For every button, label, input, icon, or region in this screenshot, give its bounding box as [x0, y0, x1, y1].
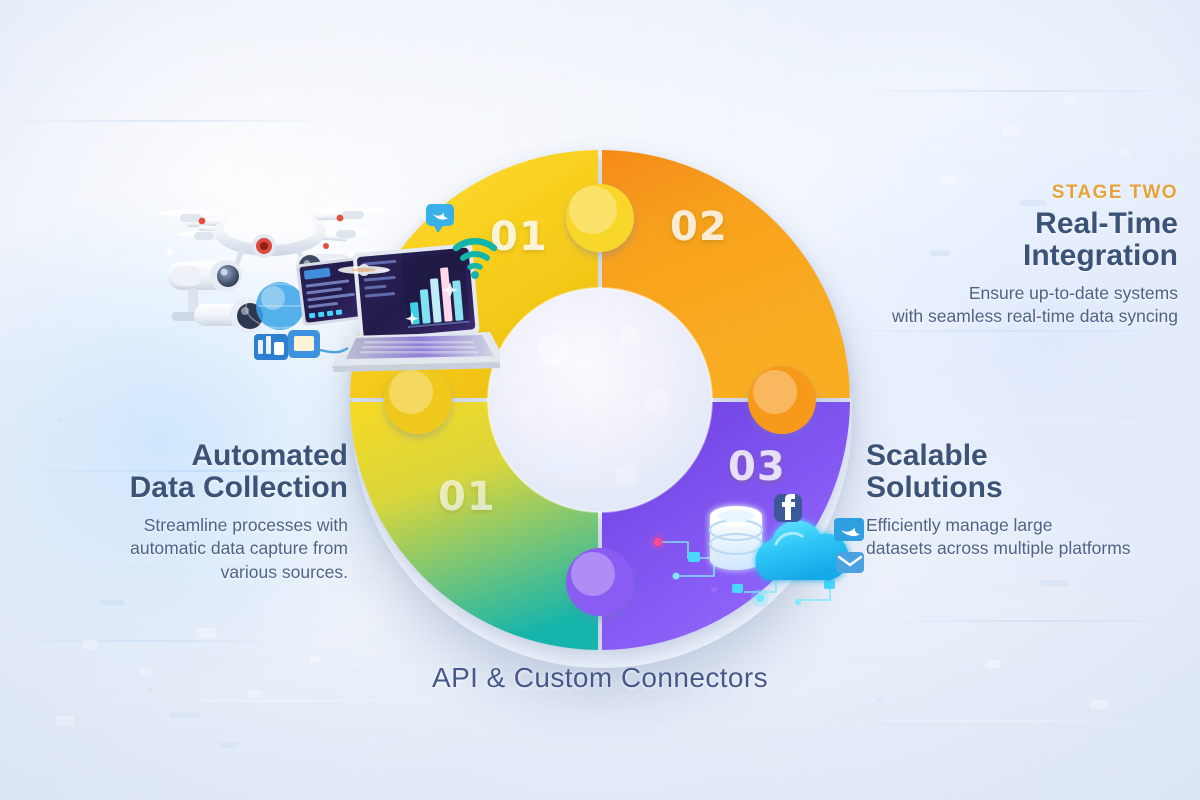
body-line-1: Ensure up-to-date systems — [969, 283, 1178, 303]
panel-automated-data-collection: Automated Data Collection Streamline pro… — [28, 440, 348, 584]
panel-title: Automated Data Collection — [28, 440, 348, 505]
panel-body: Efficiently manage large datasets across… — [866, 514, 1186, 561]
body-line-2: datasets across multiple platforms — [866, 538, 1131, 558]
file-card-icon — [254, 330, 320, 360]
cloud-database-illustration — [648, 480, 898, 610]
panel-body: Streamline processes with automatic data… — [28, 514, 348, 584]
laptop-dashboard-icon — [296, 243, 500, 372]
body-line-2: with seamless real-time data syncing — [892, 306, 1178, 326]
title-line-2: Data Collection — [130, 471, 348, 504]
bottom-caption: API & Custom Connectors — [0, 662, 1200, 694]
mail-icon — [836, 552, 864, 573]
panel-title: Scalable Solutions — [866, 440, 1186, 505]
title-line-1: Automated — [191, 439, 348, 472]
panel-real-time-integration: STAGE TWO Real-Time Integration Ensure u… — [800, 182, 1178, 329]
facebook-icon — [774, 494, 802, 522]
title-line-1: Scalable — [866, 439, 988, 472]
database-cylinder-icon — [710, 506, 762, 570]
twitter-chat-icon — [426, 204, 454, 233]
title-line-2: Solutions — [866, 471, 1003, 504]
title-line-2: Integration — [1023, 239, 1178, 272]
infographic-canvas: 01 02 03 01 — [0, 0, 1200, 800]
body-line-1: Streamline processes with — [144, 515, 348, 535]
segment-number-bottom-left: 01 — [438, 474, 496, 520]
body-line-2: automatic data capture from — [130, 538, 348, 558]
panel-title: Real-Time Integration — [800, 208, 1178, 273]
body-line-3: various sources. — [221, 562, 348, 582]
body-line-1: Efficiently manage large — [866, 515, 1052, 535]
dome-camera-icon — [194, 298, 266, 334]
stage-eyebrow: STAGE TWO — [800, 182, 1178, 204]
panel-scalable-solutions: Scalable Solutions Efficiently manage la… — [866, 440, 1186, 561]
segment-number-top-right: 02 — [670, 204, 728, 250]
panel-body: Ensure up-to-date systems with seamless … — [800, 282, 1178, 329]
title-line-1: Real-Time — [1035, 207, 1178, 240]
devices-illustration — [150, 186, 500, 386]
twitter-icon — [834, 518, 864, 541]
